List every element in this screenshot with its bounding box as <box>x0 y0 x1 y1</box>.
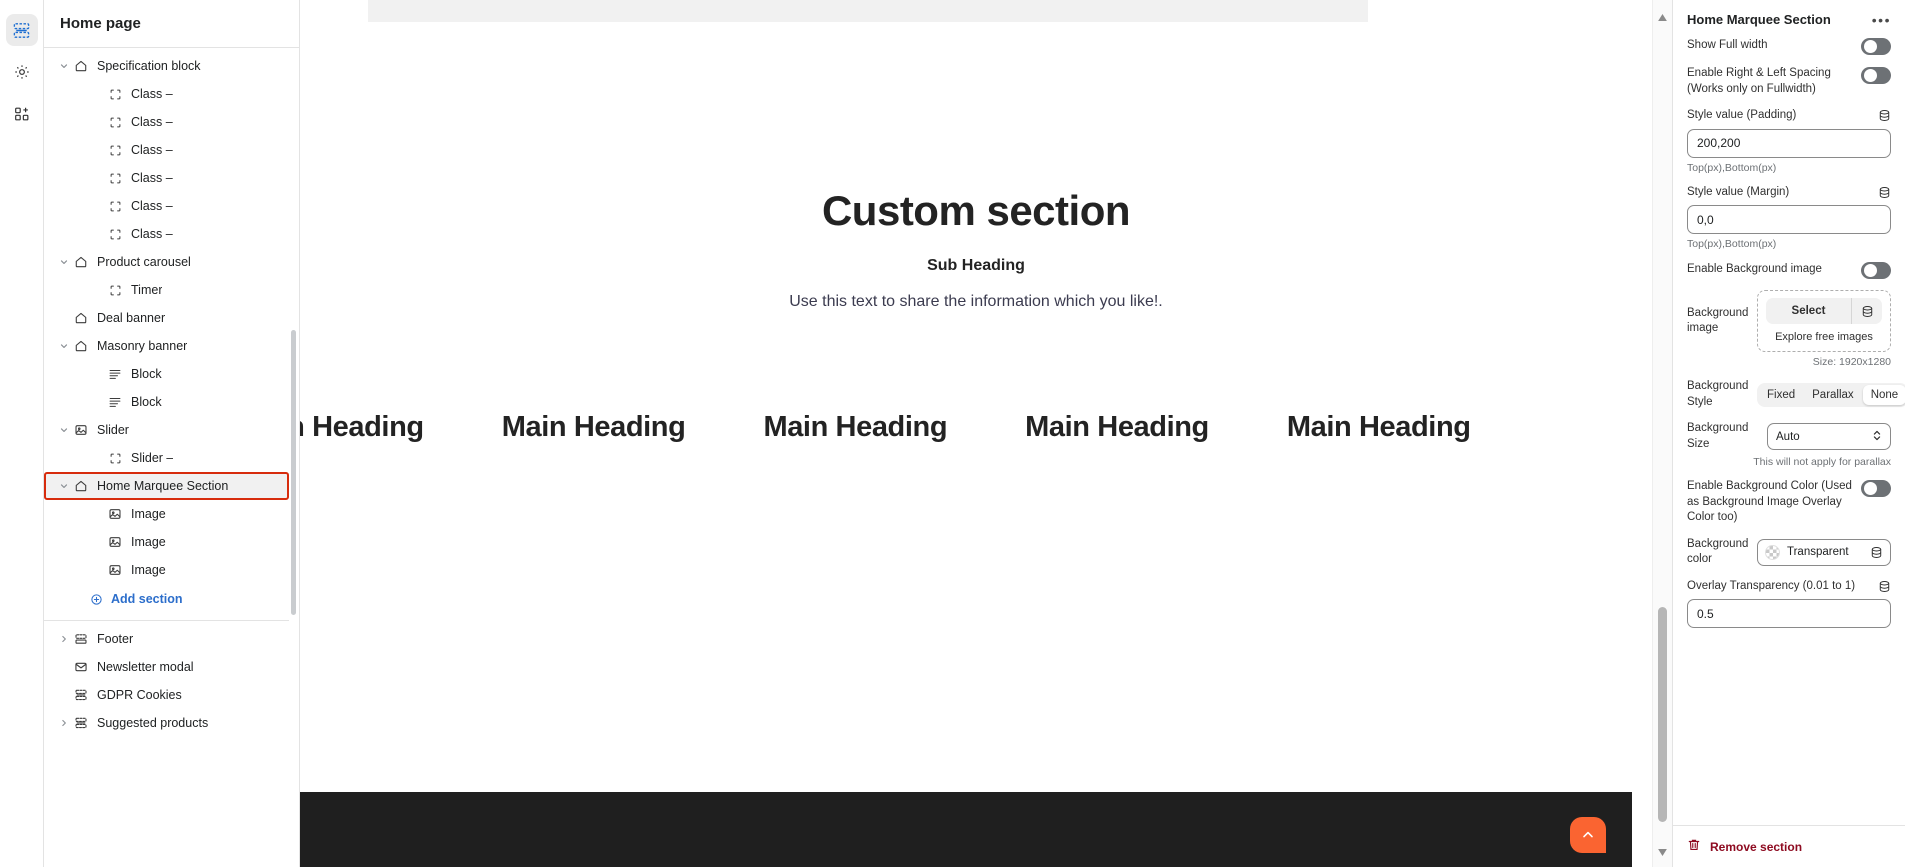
dynamic-source-icon[interactable] <box>1870 546 1883 559</box>
tree-item-gdpr-cookies[interactable]: GDPR Cookies <box>44 681 289 709</box>
enable-bg-color-toggle[interactable] <box>1861 480 1891 497</box>
enable-bg-color-row: Enable Background Color (Used as Backgro… <box>1687 479 1891 526</box>
preview-subheading: Sub Heading <box>300 257 1652 275</box>
scroll-up-arrow-icon[interactable] <box>1653 10 1672 24</box>
tree-item-label: Product carousel <box>97 255 191 269</box>
panel-header: Home Marquee Section ••• <box>1673 0 1905 37</box>
background-style-row: Background Style FixedParallaxNone <box>1687 379 1891 410</box>
sections-sidebar: Home page Specification blockClass – Cla… <box>44 0 300 867</box>
tree-item-timer[interactable]: Timer <box>44 276 289 304</box>
tree-item-label: Timer <box>131 283 162 297</box>
apps-add-icon[interactable] <box>6 98 38 130</box>
scroll-to-top-button[interactable] <box>1570 817 1606 853</box>
tree-item-newsletter-modal[interactable]: Newsletter modal <box>44 653 289 681</box>
tree-item-image[interactable]: Image <box>44 556 289 584</box>
tree-item-label: Suggested products <box>97 716 208 730</box>
marquee-item: Main Heading <box>502 411 686 444</box>
background-style-label: Background Style <box>1687 379 1749 410</box>
marquee-item: Main Heading <box>763 411 947 444</box>
tree-item-footer[interactable]: Footer <box>44 625 289 653</box>
marquee-strip[interactable]: Main HeadingMain HeadingMain HeadingMain… <box>300 411 1652 444</box>
chevron-down-icon[interactable] <box>56 425 72 435</box>
tree-item-slider[interactable]: Slider <box>44 416 289 444</box>
more-options-icon[interactable]: ••• <box>1872 13 1891 27</box>
dynamic-source-icon[interactable] <box>1878 109 1891 122</box>
sections-tree-wrapper: Specification blockClass – Class – Class… <box>44 48 299 867</box>
preview-page: Custom section Sub Heading Use this text… <box>300 22 1652 867</box>
overlay-transparency-label: Overlay Transparency (0.01 to 1) <box>1687 579 1855 595</box>
tree-item-class[interactable]: Class – <box>44 108 289 136</box>
dynamic-source-icon[interactable] <box>1878 580 1891 593</box>
select-image-bar: Select <box>1766 298 1882 324</box>
tree-item-label: Class – <box>131 199 173 213</box>
enable-spacing-label: Enable Right & Left Spacing (Works only … <box>1687 66 1853 97</box>
dynamic-source-icon[interactable] <box>1878 186 1891 199</box>
preview-scrollbar[interactable] <box>1652 0 1672 867</box>
tree-item-image[interactable]: Image <box>44 528 289 556</box>
tree-item-specification-block[interactable]: Specification block <box>44 52 289 80</box>
home-icon <box>72 479 90 493</box>
enable-bg-color-label: Enable Background Color (Used as Backgro… <box>1687 479 1853 526</box>
tree-item-label: Image <box>131 535 166 549</box>
select-image-button[interactable]: Select <box>1766 298 1851 324</box>
tree-item-label: Masonry banner <box>97 339 187 353</box>
background-size-select[interactable]: Auto <box>1767 423 1891 450</box>
preview-dark-band <box>300 792 1632 867</box>
preview-top-strip <box>368 0 1368 22</box>
margin-label-row: Style value (Margin) <box>1687 185 1891 201</box>
tree-item-class[interactable]: Class – <box>44 164 289 192</box>
tree-item-slider[interactable]: Slider – <box>44 444 289 472</box>
section-settings-panel: Home Marquee Section ••• Show Full width… <box>1673 0 1905 867</box>
show-full-width-label: Show Full width <box>1687 38 1768 54</box>
block-icon <box>106 452 124 465</box>
background-color-label: Background color <box>1687 537 1749 568</box>
show-full-width-row: Show Full width <box>1687 37 1891 55</box>
margin-helper: Top(px),Bottom(px) <box>1687 238 1891 250</box>
add-section-label: Add section <box>111 592 183 606</box>
tree-item-deal-banner[interactable]: Deal banner <box>44 304 289 332</box>
home-icon <box>72 311 90 325</box>
tree-item-label: Class – <box>131 115 173 129</box>
page-title: Home page <box>44 0 299 48</box>
chevron-down-icon[interactable] <box>56 341 72 351</box>
marquee-item: Main Heading <box>300 411 424 444</box>
overlay-transparency-label-row: Overlay Transparency (0.01 to 1) <box>1687 579 1891 595</box>
tree-item-class[interactable]: Class – <box>44 220 289 248</box>
tree-item-image[interactable]: Image <box>44 500 289 528</box>
background-style-segmented-control[interactable]: FixedParallaxNone <box>1757 383 1905 407</box>
tree-item-label: Footer <box>97 632 133 646</box>
tree-divider <box>44 620 289 621</box>
trash-icon <box>1687 838 1701 855</box>
chevron-down-icon[interactable] <box>56 257 72 267</box>
block-icon <box>106 172 124 185</box>
padding-input[interactable] <box>1687 129 1891 158</box>
background-color-row: Background color Transparent <box>1687 537 1891 568</box>
overlay-transparency-input[interactable] <box>1687 599 1891 628</box>
text-lines-icon <box>106 367 124 381</box>
tree-item-class[interactable]: Class – <box>44 136 289 164</box>
home-icon <box>72 255 90 269</box>
theme-editor-app: Home page Specification blockClass – Cla… <box>0 0 1905 867</box>
preview-heading: Custom section <box>300 187 1652 235</box>
explore-free-images-link[interactable]: Explore free images <box>1766 331 1882 343</box>
padding-label-row: Style value (Padding) <box>1687 108 1891 124</box>
tree-item-label: Slider <box>97 423 129 437</box>
preview-body-text: Use this text to share the information w… <box>300 293 1652 311</box>
tree-item-label: Specification block <box>97 59 201 73</box>
chevron-right-icon[interactable] <box>56 634 72 644</box>
footer-icon <box>72 632 90 646</box>
tree-item-class[interactable]: Class – <box>44 80 289 108</box>
tree-item-masonry-banner[interactable]: Masonry banner <box>44 332 289 360</box>
sections-icon <box>72 688 90 702</box>
show-full-width-toggle[interactable] <box>1861 38 1891 55</box>
settings-gear-icon[interactable] <box>6 56 38 88</box>
dynamic-source-icon[interactable] <box>1852 298 1882 324</box>
chevron-down-icon[interactable] <box>56 481 72 491</box>
tree-item-suggested-products[interactable]: Suggested products <box>44 709 289 737</box>
background-image-label: Background image <box>1687 306 1749 337</box>
background-size-label: Background Size <box>1687 421 1759 452</box>
block-icon <box>106 284 124 297</box>
padding-label: Style value (Padding) <box>1687 108 1796 124</box>
background-style-option-none[interactable]: None <box>1863 385 1905 405</box>
sections-icon[interactable] <box>6 14 38 46</box>
padding-helper: Top(px),Bottom(px) <box>1687 162 1891 174</box>
transparent-swatch-icon <box>1765 545 1780 560</box>
block-icon <box>106 144 124 157</box>
background-style-option-fixed[interactable]: Fixed <box>1759 385 1803 405</box>
home-icon <box>72 59 90 73</box>
tree-item-home-marquee-section[interactable]: Home Marquee Section <box>44 472 289 500</box>
background-style-option-parallax[interactable]: Parallax <box>1804 385 1862 405</box>
tree-item-label: Class – <box>131 171 173 185</box>
home-icon <box>72 339 90 353</box>
image-icon <box>72 423 90 437</box>
tree-item-label: Newsletter modal <box>97 660 194 674</box>
remove-section-label: Remove section <box>1710 840 1802 854</box>
block-icon <box>106 116 124 129</box>
block-icon <box>106 88 124 101</box>
plus-circle-icon <box>90 593 103 606</box>
enable-bg-image-row: Enable Background image <box>1687 261 1891 279</box>
tree-item-label: Class – <box>131 87 173 101</box>
background-size-value: Auto <box>1776 431 1800 443</box>
tree-item-label: Home Marquee Section <box>97 479 228 493</box>
tree-item-label: Slider – <box>131 451 173 465</box>
enable-spacing-toggle[interactable] <box>1861 67 1891 84</box>
background-size-note: This will not apply for parallax <box>1687 456 1891 468</box>
block-icon <box>106 200 124 213</box>
left-icon-rail <box>0 0 44 867</box>
chevron-right-icon[interactable] <box>56 718 72 728</box>
envelope-icon <box>72 660 90 674</box>
text-lines-icon <box>106 395 124 409</box>
tree-item-label: Class – <box>131 227 173 241</box>
tree-item-class[interactable]: Class – <box>44 192 289 220</box>
sidebar-scrollbar[interactable] <box>291 330 296 615</box>
background-image-size-note: Size: 1920x1280 <box>1687 356 1891 368</box>
panel-footer: Remove section <box>1673 825 1905 867</box>
image-icon <box>106 507 124 521</box>
background-size-row: Background Size Auto <box>1687 421 1891 452</box>
margin-input[interactable] <box>1687 205 1891 234</box>
preview-canvas: Custom section Sub Heading Use this text… <box>300 0 1673 867</box>
tree-item-label: GDPR Cookies <box>97 688 182 702</box>
image-icon <box>106 535 124 549</box>
sections-tree: Specification blockClass – Class – Class… <box>44 48 289 867</box>
block-icon <box>106 228 124 241</box>
tree-item-label: Block <box>131 395 162 409</box>
scroll-down-arrow-icon[interactable] <box>1653 845 1672 859</box>
tree-item-product-carousel[interactable]: Product carousel <box>44 248 289 276</box>
chevron-down-icon[interactable] <box>56 61 72 71</box>
background-image-row: Background image Select Explore free ima… <box>1687 290 1891 352</box>
preview-scrollbar-thumb[interactable] <box>1658 607 1667 822</box>
tree-item-block[interactable]: Block <box>44 360 289 388</box>
remove-section-button[interactable]: Remove section <box>1687 838 1891 855</box>
enable-bg-image-toggle[interactable] <box>1861 262 1891 279</box>
tree-item-label: Block <box>131 367 162 381</box>
sections-icon <box>72 716 90 730</box>
background-color-picker[interactable]: Transparent <box>1757 539 1891 566</box>
tree-item-block[interactable]: Block <box>44 388 289 416</box>
background-image-picker[interactable]: Select Explore free images <box>1757 290 1891 352</box>
image-icon <box>106 563 124 577</box>
marquee-item: Main Heading <box>1025 411 1209 444</box>
add-section-button[interactable]: Add section <box>44 584 289 614</box>
panel-title: Home Marquee Section <box>1687 12 1831 27</box>
panel-body: Show Full width Enable Right & Left Spac… <box>1673 37 1905 825</box>
enable-bg-image-label: Enable Background image <box>1687 262 1822 278</box>
marquee-item: Main Heading <box>1287 411 1471 444</box>
chevron-updown-icon <box>1872 429 1882 445</box>
tree-item-label: Deal banner <box>97 311 165 325</box>
tree-item-label: Class – <box>131 143 173 157</box>
tree-item-label: Image <box>131 507 166 521</box>
tree-item-label: Image <box>131 563 166 577</box>
background-color-value: Transparent <box>1787 546 1863 558</box>
enable-spacing-row: Enable Right & Left Spacing (Works only … <box>1687 66 1891 97</box>
margin-label: Style value (Margin) <box>1687 185 1789 201</box>
chevron-up-icon <box>1580 827 1596 843</box>
